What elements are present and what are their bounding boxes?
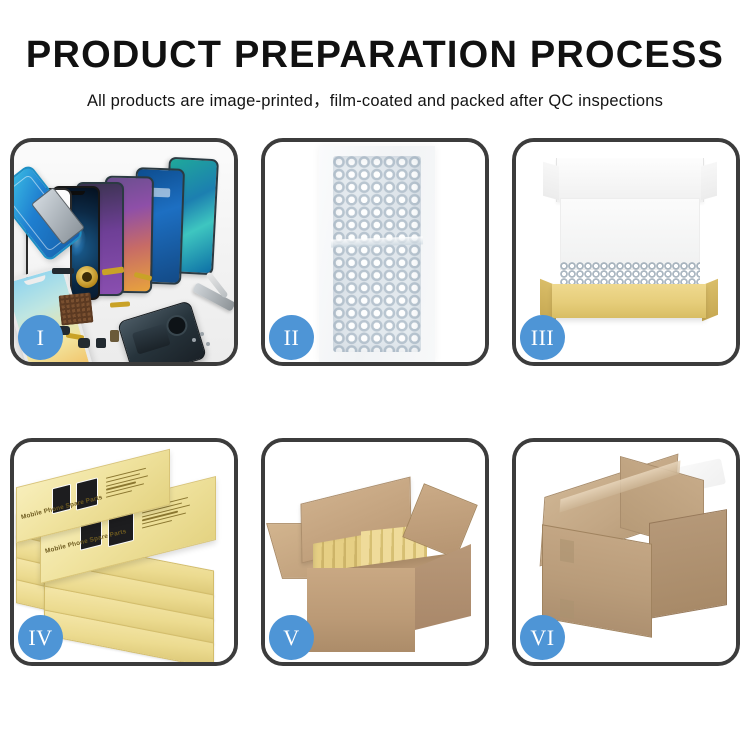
step-badge-6: VI bbox=[520, 615, 565, 660]
connector-icon bbox=[110, 330, 119, 342]
box-lid-back-icon bbox=[560, 198, 700, 270]
box-front-icon bbox=[552, 284, 706, 318]
product-preparation-page: PRODUCT PREPARATION PROCESS All products… bbox=[0, 0, 750, 750]
page-subtitle: All products are image-printed，film-coat… bbox=[0, 87, 750, 111]
step-panel-5: V bbox=[261, 438, 489, 666]
step-panel-2: II bbox=[261, 138, 489, 366]
step-badge-1: I bbox=[18, 315, 63, 360]
speaker-mesh-icon bbox=[59, 292, 94, 325]
process-steps-grid: I II III bbox=[10, 138, 740, 694]
step-panel-4: Mobile Phone Spare Parts Mobile Phone Sp… bbox=[10, 438, 238, 666]
chip-icon-1 bbox=[52, 268, 74, 274]
carton-tape-fold-upper-icon bbox=[560, 539, 574, 563]
screw-icon-1 bbox=[192, 338, 196, 342]
step-badge-5: V bbox=[269, 615, 314, 660]
screw-icon-2 bbox=[200, 332, 204, 336]
step-panel-1: I bbox=[10, 138, 238, 366]
chip-icon-3 bbox=[78, 338, 90, 348]
carton-tape-fold-lower-icon bbox=[560, 599, 574, 619]
carton-front-icon bbox=[307, 568, 415, 652]
vibration-motor-icon bbox=[76, 266, 98, 288]
step-panel-6: VI bbox=[512, 438, 740, 666]
carton-right-face-icon bbox=[649, 509, 727, 619]
screw-icon-3 bbox=[206, 342, 210, 346]
bubble-pad-icon bbox=[333, 156, 421, 352]
step-badge-2: II bbox=[269, 315, 314, 360]
step-badge-3: III bbox=[520, 315, 565, 360]
page-title: PRODUCT PREPARATION PROCESS bbox=[0, 36, 750, 76]
chip-icon-4 bbox=[96, 338, 106, 348]
box-lid-flap-icon bbox=[556, 158, 704, 202]
step-panel-3: III bbox=[512, 138, 740, 366]
page-header: PRODUCT PREPARATION PROCESS All products… bbox=[0, 0, 750, 111]
step-badge-4: IV bbox=[18, 615, 63, 660]
